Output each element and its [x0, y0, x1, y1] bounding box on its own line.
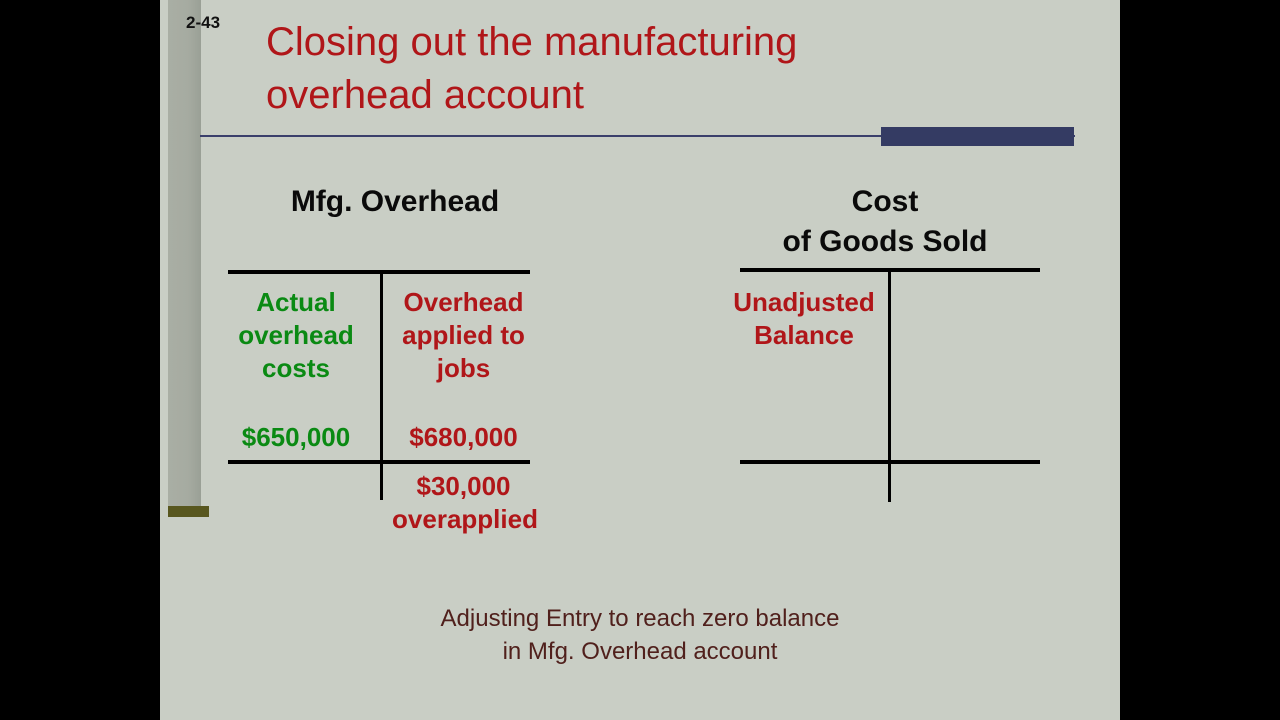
t-account-title-line2-cogs: of Goods Sold [720, 222, 1050, 262]
t-account-bottom-rule-mfg-overhead [228, 460, 530, 464]
footer-caption-line2: in Mfg. Overhead account [160, 635, 1120, 668]
t-account-title-line1-cogs: Cost [720, 182, 1050, 222]
t-account-mfg-overhead: Mfg. Overhead Actual overhead costs Over… [200, 182, 590, 552]
t-account-debit-label-cogs: Unadjusted Balance [724, 286, 884, 352]
t-account-divider-mfg-overhead [380, 272, 383, 500]
t-account-bottom-rule-cogs [740, 460, 1040, 464]
title-divider-cap [881, 127, 1074, 146]
t-account-debit-amount-mfg-overhead: $650,000 [216, 421, 376, 454]
t-account-balance-note-mfg-overhead: overapplied [360, 503, 570, 536]
slide-number: 2-43 [186, 13, 220, 33]
t-account-credit-amount-mfg-overhead: $680,000 [386, 421, 541, 454]
slide-viewport: 2-43 Closing out the manufacturing overh… [0, 0, 1280, 720]
t-account-divider-cogs [888, 270, 891, 502]
left-decoration-bar [168, 0, 201, 506]
t-account-credit-label-mfg-overhead: Overhead applied to jobs [386, 286, 541, 385]
footer-caption-line1: Adjusting Entry to reach zero balance [160, 602, 1120, 635]
t-account-cost-of-goods-sold: Cost of Goods Sold Unadjusted Balance [720, 182, 1050, 512]
footer-caption: Adjusting Entry to reach zero balance in… [160, 602, 1120, 668]
slide-canvas: 2-43 Closing out the manufacturing overh… [160, 0, 1120, 720]
page-title: Closing out the manufacturing overhead a… [266, 16, 966, 122]
t-account-balance-amount-mfg-overhead: $30,000 [386, 470, 541, 503]
t-account-top-rule-mfg-overhead [228, 270, 530, 274]
t-account-debit-label-mfg-overhead: Actual overhead costs [216, 286, 376, 385]
t-account-title-mfg-overhead: Mfg. Overhead [200, 182, 590, 222]
